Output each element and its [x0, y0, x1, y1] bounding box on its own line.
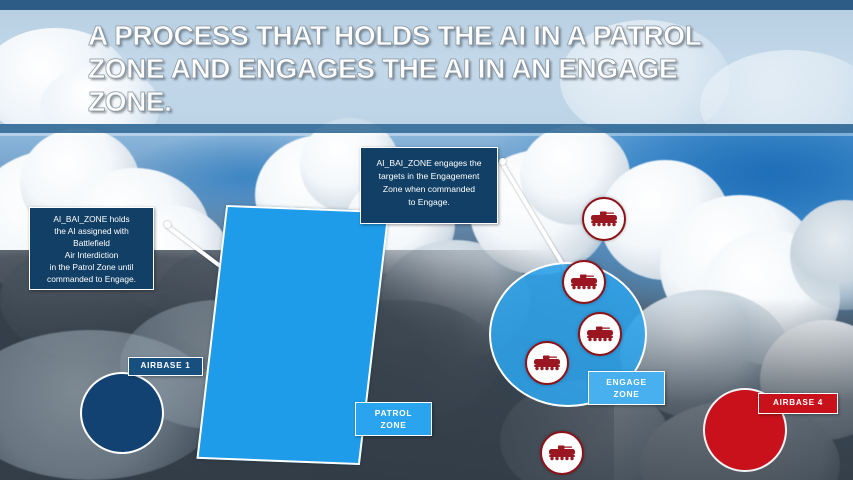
tank-icon — [569, 273, 599, 291]
label-engage-zone: ENGAGE ZONE — [588, 371, 665, 405]
slide-canvas: A PROCESS THAT HOLDS THE AI IN A PATROL … — [0, 0, 853, 480]
tank-icon — [547, 444, 577, 462]
label-patrol-zone: PATROL ZONE — [355, 402, 432, 436]
callout-patrol-description: AI_BAI_ZONE holds the AI assigned with B… — [29, 207, 154, 290]
tank-icon — [532, 354, 562, 372]
header-top-band — [0, 0, 853, 10]
leader-dot-top-callout — [499, 158, 506, 165]
header-bottom-band — [0, 124, 853, 133]
page-title: A PROCESS THAT HOLDS THE AI IN A PATROL … — [88, 20, 778, 118]
label-airbase-4: AIRBASE 4 — [758, 393, 838, 414]
callout-engage-description: AI_BAI_ZONE engages the targets in the E… — [360, 147, 498, 224]
enemy-unit-marker[interactable] — [525, 341, 569, 385]
label-airbase-1: AIRBASE 1 — [128, 357, 203, 376]
airbase-1-marker[interactable] — [80, 372, 164, 454]
tank-icon — [589, 210, 619, 228]
enemy-unit-marker[interactable] — [562, 260, 606, 304]
header-bottom-highlight — [0, 133, 853, 136]
enemy-unit-marker[interactable] — [578, 312, 622, 356]
tank-icon — [585, 325, 615, 343]
enemy-unit-marker[interactable] — [540, 431, 584, 475]
leader-dot-left-callout — [164, 221, 171, 228]
enemy-unit-marker[interactable] — [582, 197, 626, 241]
